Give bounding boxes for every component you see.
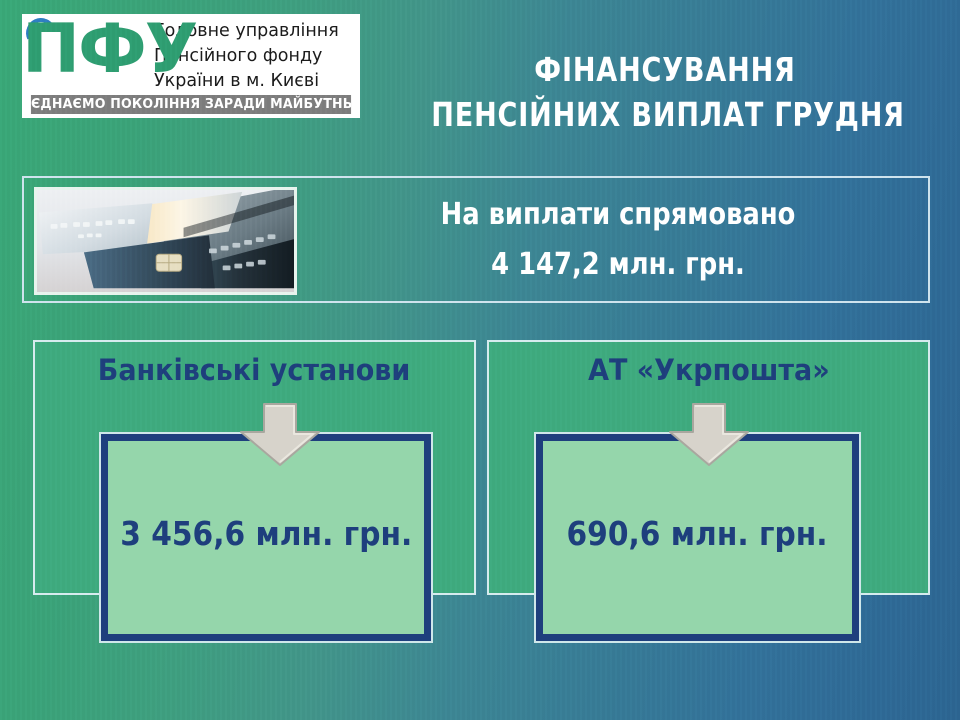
pfu-monogram: ПФУ — [24, 16, 152, 96]
channel-title-banks: Банківські установи — [35, 351, 474, 389]
value-banks: 3 456,6 млн. грн. — [120, 514, 412, 554]
total-label: На виплати спрямовано — [357, 190, 880, 240]
logo-top-row: ПФУ Головне управління Пенсійного фонду … — [22, 14, 360, 96]
pfu-logo: ПФУ Головне управління Пенсійного фонду … — [22, 14, 360, 118]
logo-tagline: ЄДНАЄМО ПОКОЛІННЯ ЗАРАДИ МАЙБУТНЬОГО — [31, 95, 351, 114]
bank-cards-photo — [34, 187, 297, 295]
value-ukrposhta: 690,6 млн. грн. — [567, 514, 828, 554]
total-value: 4 147,2 млн. грн. — [357, 240, 880, 290]
total-summary-banner: На виплати спрямовано 4 147,2 млн. грн. — [22, 176, 930, 303]
page-title-line-2: ПЕНСІЙНИХ ВИПЛАТ ГРУДНЯ — [431, 92, 898, 137]
page-title: ФІНАНСУВАННЯ ПЕНСІЙНИХ ВИПЛАТ ГРУДНЯ — [380, 47, 950, 137]
channel-title-ukrposhta: АТ «Укрпошта» — [489, 351, 928, 389]
slide-root: ПФУ Головне управління Пенсійного фонду … — [0, 0, 960, 720]
down-arrow-icon — [237, 402, 323, 468]
total-summary-text: На виплати спрямовано 4 147,2 млн. грн. — [314, 190, 922, 290]
down-arrow-icon — [666, 402, 752, 468]
pfu-monogram-text: ПФУ — [22, 10, 196, 90]
page-title-line-1: ФІНАНСУВАННЯ — [431, 47, 898, 92]
